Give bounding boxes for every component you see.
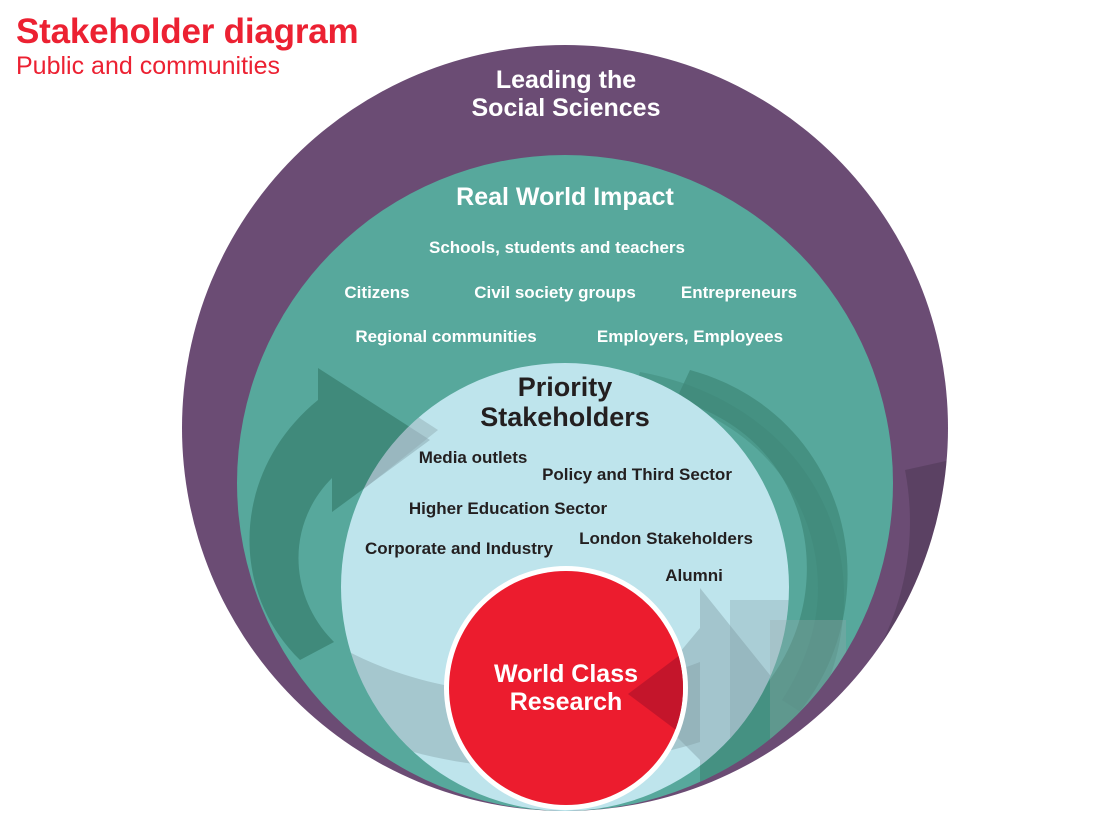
inner-item-corporate-and-industry: Corporate and Industry [365,539,553,559]
page-title: Stakeholder diagram [16,14,358,51]
outer-ring-title: Leading the Social Sciences [471,66,660,122]
middle-ring-title: Real World Impact [456,183,674,211]
middle-item-entrepreneurs: Entrepreneurs [681,283,797,303]
inner-item-alumni: Alumni [665,566,723,586]
outer-ring-title-line2: Social Sciences [471,94,660,122]
inner-circle-title: Priority Stakeholders [480,372,650,432]
middle-item-regional-communities: Regional communities [355,327,536,347]
inner-circle-title-line2: Stakeholders [480,402,650,432]
middle-ring-title-line1: Real World Impact [456,183,674,211]
page-subtitle: Public and communities [16,53,358,81]
inner-item-london-stakeholders: London Stakeholders [579,529,753,549]
inner-item-higher-education-sector: Higher Education Sector [409,499,607,519]
middle-item-civil-society-groups: Civil society groups [474,283,636,303]
core-circle-title-line2: Research [494,688,638,716]
header: Stakeholder diagram Public and communiti… [16,14,358,80]
inner-item-policy-and-third-sector: Policy and Third Sector [542,465,732,485]
inner-circle-title-line1: Priority [480,372,650,402]
middle-item-employers-employees: Employers, Employees [597,327,783,347]
core-circle-title-line1: World Class [494,660,638,688]
inner-item-media-outlets: Media outlets [419,448,528,468]
outer-ring-title-line1: Leading the [471,66,660,94]
core-circle-title: World Class Research [494,660,638,716]
middle-item-schools: Schools, students and teachers [429,238,685,258]
middle-item-citizens: Citizens [344,283,409,303]
